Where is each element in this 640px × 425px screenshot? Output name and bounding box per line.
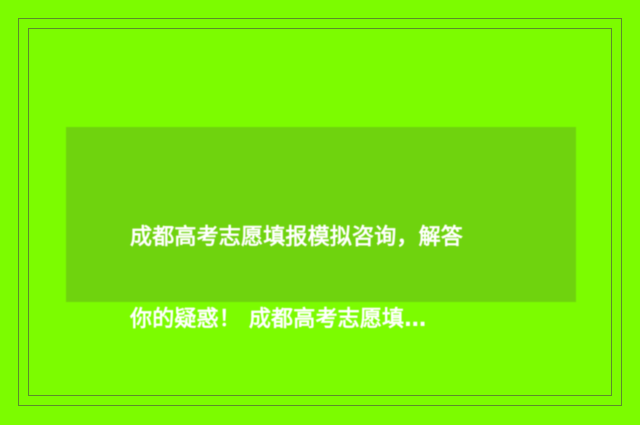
headline-line-1: 成都高考志愿填报模拟咨询，解答 [130,217,530,258]
poster-canvas: 成都高考志愿填报模拟咨询，解答 你的疑惑！ 成都高考志愿填… [0,0,640,425]
headline-line-2: 你的疑惑！ 成都高考志愿填… [130,299,530,340]
headline-text-block: 成都高考志愿填报模拟咨询，解答 你的疑惑！ 成都高考志愿填… [130,176,530,381]
